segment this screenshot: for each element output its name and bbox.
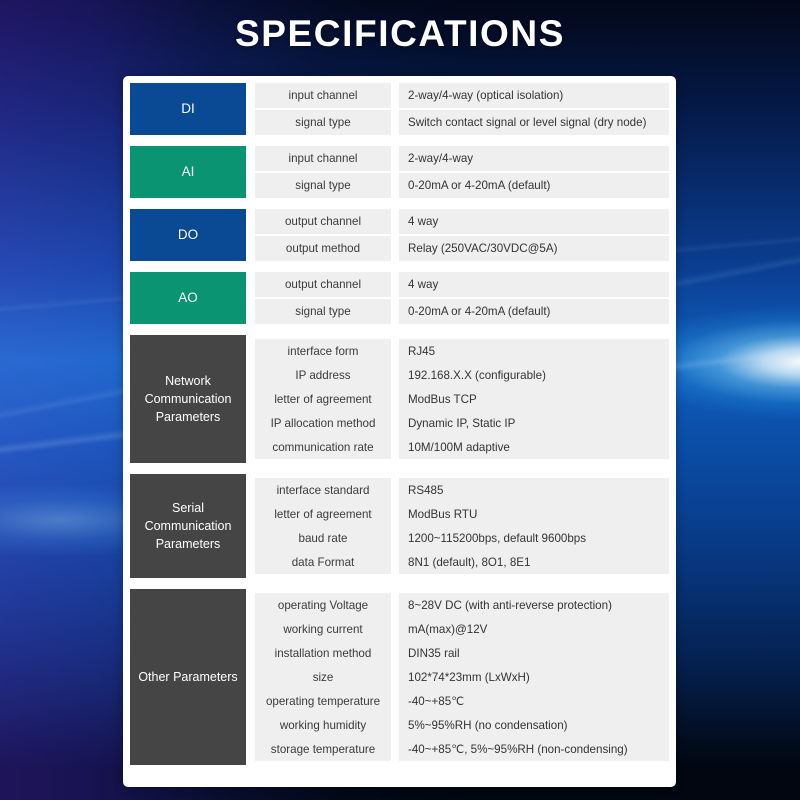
spec-rows: operating Voltage8~28V DC (with anti-rev… xyxy=(255,589,669,765)
spec-category-cell: Other Parameters xyxy=(130,589,246,765)
spec-row-key: output method xyxy=(255,236,391,261)
spec-category-label: AO xyxy=(178,289,198,307)
spec-row-value: Relay (250VAC/30VDC@5A) xyxy=(399,236,669,261)
spec-row: IP address192.168.X.X (configurable) xyxy=(255,363,669,387)
spec-row-key: letter of agreement xyxy=(255,502,391,526)
spec-category-label: AI xyxy=(182,163,195,181)
spec-category-label: Network Communication Parameters xyxy=(134,372,242,426)
spec-row-value: ModBus TCP xyxy=(399,387,669,411)
spec-row-value: 4 way xyxy=(399,272,669,297)
spec-row: interface standardRS485 xyxy=(255,478,669,502)
spec-row-key: size xyxy=(255,665,391,689)
spec-category-cell: DI xyxy=(130,83,246,135)
spec-category-cell: AI xyxy=(130,146,246,198)
spec-rows: input channel2-way/4-way (optical isolat… xyxy=(255,83,669,135)
spec-row-value: 8~28V DC (with anti-reverse protection) xyxy=(399,593,669,617)
spec-blocks-container: DIinput channel2-way/4-way (optical isol… xyxy=(130,83,669,765)
spec-row-key: operating Voltage xyxy=(255,593,391,617)
spec-row-value: Dynamic IP, Static IP xyxy=(399,411,669,435)
spec-row-value: Switch contact signal or level signal (d… xyxy=(399,110,669,135)
spec-rows: interface standardRS485letter of agreeme… xyxy=(255,474,669,578)
spec-row-value: 2-way/4-way xyxy=(399,146,669,171)
page-title: SPECIFICATIONS xyxy=(0,8,800,60)
spec-row: IP allocation methodDynamic IP, Static I… xyxy=(255,411,669,435)
spec-row-key: installation method xyxy=(255,641,391,665)
spec-row-key: input channel xyxy=(255,83,391,108)
spec-row: signal type0-20mA or 4-20mA (default) xyxy=(255,173,669,198)
spec-category-label: Other Parameters xyxy=(138,668,237,686)
spec-row-key: signal type xyxy=(255,173,391,198)
spec-row: interface formRJ45 xyxy=(255,339,669,363)
spec-row-key: signal type xyxy=(255,299,391,324)
spec-row-key: signal type xyxy=(255,110,391,135)
spec-row-key: storage temperature xyxy=(255,737,391,761)
spec-category-label: DO xyxy=(178,226,198,244)
spec-row-key: output channel xyxy=(255,209,391,234)
spec-row: working humidity5%~95%RH (no condensatio… xyxy=(255,713,669,737)
spec-row: operating temperature-40~+85℃ xyxy=(255,689,669,713)
spec-rows: interface formRJ45IP address192.168.X.X … xyxy=(255,335,669,463)
spec-category-cell: AO xyxy=(130,272,246,324)
spec-row-key: communication rate xyxy=(255,435,391,459)
spec-row-value: 1200~115200bps, default 9600bps xyxy=(399,526,669,550)
spec-row-key: letter of agreement xyxy=(255,387,391,411)
spec-row: letter of agreementModBus RTU xyxy=(255,502,669,526)
specifications-panel: DIinput channel2-way/4-way (optical isol… xyxy=(123,76,676,787)
spec-category-cell: DO xyxy=(130,209,246,261)
spec-row-key: output channel xyxy=(255,272,391,297)
spec-row-value: 5%~95%RH (no condensation) xyxy=(399,713,669,737)
spec-row-key: IP address xyxy=(255,363,391,387)
spec-row: operating Voltage8~28V DC (with anti-rev… xyxy=(255,593,669,617)
spec-row-value: -40~+85℃, 5%~95%RH (non-condensing) xyxy=(399,737,669,761)
spec-row-key: operating temperature xyxy=(255,689,391,713)
spec-row: output channel4 way xyxy=(255,209,669,234)
spec-row-value: RS485 xyxy=(399,478,669,502)
spec-rows: output channel4 waysignal type0-20mA or … xyxy=(255,272,669,324)
spec-category-cell: Serial Communication Parameters xyxy=(130,474,246,578)
spec-row: working currentmA(max)@12V xyxy=(255,617,669,641)
spec-row-key: working humidity xyxy=(255,713,391,737)
spec-row: signal typeSwitch contact signal or leve… xyxy=(255,110,669,135)
spec-row: signal type0-20mA or 4-20mA (default) xyxy=(255,299,669,324)
spec-row: output channel4 way xyxy=(255,272,669,297)
spec-row-value: 0-20mA or 4-20mA (default) xyxy=(399,299,669,324)
spec-row-value: ModBus RTU xyxy=(399,502,669,526)
spec-row: output methodRelay (250VAC/30VDC@5A) xyxy=(255,236,669,261)
spec-rows: input channel2-way/4-waysignal type0-20m… xyxy=(255,146,669,198)
spec-row: letter of agreementModBus TCP xyxy=(255,387,669,411)
spec-row: data Format8N1 (default), 8O1, 8E1 xyxy=(255,550,669,574)
spec-row-value: -40~+85℃ xyxy=(399,689,669,713)
spec-row-key: IP allocation method xyxy=(255,411,391,435)
spec-row-key: interface form xyxy=(255,339,391,363)
spec-block: Network Communication Parametersinterfac… xyxy=(130,335,669,463)
spec-row-value: 2-way/4-way (optical isolation) xyxy=(399,83,669,108)
spec-row-value: DIN35 rail xyxy=(399,641,669,665)
spec-row: input channel2-way/4-way (optical isolat… xyxy=(255,83,669,108)
spec-block: Other Parametersoperating Voltage8~28V D… xyxy=(130,589,669,765)
spec-block: AIinput channel2-way/4-waysignal type0-2… xyxy=(130,146,669,198)
spec-block: AOoutput channel4 waysignal type0-20mA o… xyxy=(130,272,669,324)
spec-row-value: 102*74*23mm (LxWxH) xyxy=(399,665,669,689)
spec-rows: output channel4 wayoutput methodRelay (2… xyxy=(255,209,669,261)
spec-row-key: data Format xyxy=(255,550,391,574)
spec-row-value: 0-20mA or 4-20mA (default) xyxy=(399,173,669,198)
spec-row-key: input channel xyxy=(255,146,391,171)
spec-block: Serial Communication Parametersinterface… xyxy=(130,474,669,578)
spec-category-label: DI xyxy=(181,100,195,118)
spec-block: DIinput channel2-way/4-way (optical isol… xyxy=(130,83,669,135)
spec-category-cell: Network Communication Parameters xyxy=(130,335,246,463)
spec-row: baud rate1200~115200bps, default 9600bps xyxy=(255,526,669,550)
spec-row-value: 10M/100M adaptive xyxy=(399,435,669,459)
spec-row-value: 4 way xyxy=(399,209,669,234)
spec-row: size102*74*23mm (LxWxH) xyxy=(255,665,669,689)
spec-row: input channel2-way/4-way xyxy=(255,146,669,171)
spec-row-key: working current xyxy=(255,617,391,641)
spec-row-value: 8N1 (default), 8O1, 8E1 xyxy=(399,550,669,574)
spec-row: storage temperature-40~+85℃, 5%~95%RH (n… xyxy=(255,737,669,761)
spec-block: DOoutput channel4 wayoutput methodRelay … xyxy=(130,209,669,261)
spec-row-value: 192.168.X.X (configurable) xyxy=(399,363,669,387)
spec-row-key: baud rate xyxy=(255,526,391,550)
spec-category-label: Serial Communication Parameters xyxy=(134,499,242,553)
spec-row-value: mA(max)@12V xyxy=(399,617,669,641)
spec-row: communication rate10M/100M adaptive xyxy=(255,435,669,459)
spec-row-key: interface standard xyxy=(255,478,391,502)
spec-row: installation methodDIN35 rail xyxy=(255,641,669,665)
spec-row-value: RJ45 xyxy=(399,339,669,363)
